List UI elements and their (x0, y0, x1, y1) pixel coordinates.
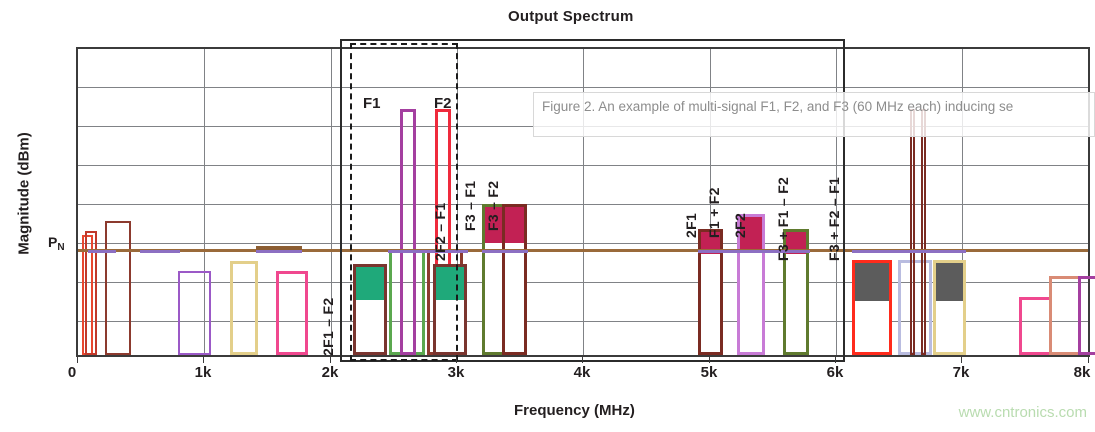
spectrum-bar (1019, 297, 1052, 355)
x-tick-label: 5k (701, 364, 718, 381)
x-tick (835, 357, 836, 363)
spectrum-bar-f3-minus-f2 (502, 204, 527, 355)
watermark: www.cntronics.com (959, 404, 1087, 421)
label-f3-minus-f2: F3 – F2 (485, 181, 501, 231)
noise-floor-violet-segment (256, 250, 302, 253)
label-f2: F2 (434, 95, 452, 112)
spectrum-bar (898, 260, 932, 355)
spectrum-figure: Output Spectrum Magnitude (dBm) Frequenc… (0, 0, 1095, 432)
x-tick-label: 2k (322, 364, 339, 381)
noise-floor-violet-segment (698, 250, 810, 253)
label-f3-plus-f1-minus-f2: F3 + F1 – F2 (775, 177, 791, 261)
x-tick (709, 357, 710, 363)
x-tick-label: 6k (827, 364, 844, 381)
spectrum-bar (178, 271, 211, 355)
spectrum-bar (1078, 276, 1095, 355)
spectrum-bar (921, 109, 926, 355)
x-tick-label: 4k (574, 364, 591, 381)
spectrum-bar-2f2-minus-f1 (433, 264, 467, 355)
noise-floor-violet-segment (388, 250, 468, 253)
noise-floor-label: PN (48, 234, 65, 250)
figure-caption: Figure 2. An example of multi-signal F1,… (533, 92, 1095, 137)
x-tick (582, 357, 583, 363)
x-tick (961, 357, 962, 363)
spectrum-bar-f3-plus-f1-minus-f2 (852, 260, 892, 355)
spectrum-bar-2f1 (698, 229, 723, 355)
spectrum-bar (276, 271, 308, 355)
x-tick (203, 357, 204, 363)
noise-floor-violet-segment (88, 250, 116, 253)
label-2f2: 2F2 (732, 213, 748, 238)
noise-floor-violet-segment (482, 250, 528, 253)
noise-floor-label-text: P (48, 234, 57, 250)
x-axis-label: Frequency (MHz) (514, 402, 635, 419)
y-axis-label: Magnitude (dBm) (16, 94, 33, 294)
x-tick-label: 8k (1074, 364, 1091, 381)
x-tick (330, 357, 331, 363)
label-2f1: 2F1 (683, 213, 699, 238)
spectrum-bar (230, 261, 258, 355)
spectrum-bar (1049, 276, 1081, 355)
x-tick-label: 1k (195, 364, 212, 381)
label-f1-plus-f2: F1 + F2 (706, 187, 722, 238)
label-f3-plus-f2-minus-f1: F3 + F2 – F1 (826, 177, 842, 261)
spectrum-bar (105, 221, 131, 355)
label-2f1-minus-f2: 2F1 – F2 (320, 298, 336, 356)
label-f3-minus-f1: F3 – F1 (462, 181, 478, 231)
spectrum-bar-f1 (400, 109, 416, 355)
x-tick-label: 0 (68, 364, 76, 381)
noise-floor-violet-segment (852, 250, 966, 253)
spectrum-bar-2f1-minus-f2 (353, 264, 387, 355)
label-f1: F1 (363, 95, 381, 112)
noise-floor-label-sub: N (57, 242, 64, 253)
noise-floor-violet-segment (140, 250, 180, 253)
spectrum-bar-f3-plus-f2-minus-f1 (933, 260, 966, 355)
x-tick (456, 357, 457, 363)
x-tick (77, 357, 78, 363)
spectrum-bar (910, 109, 915, 355)
label-2f2-minus-f1: 2F2 – F1 (432, 203, 448, 261)
page-title: Output Spectrum (508, 8, 634, 25)
x-tick-label: 3k (448, 364, 465, 381)
x-tick-label: 7k (953, 364, 970, 381)
x-tick (1088, 357, 1089, 363)
